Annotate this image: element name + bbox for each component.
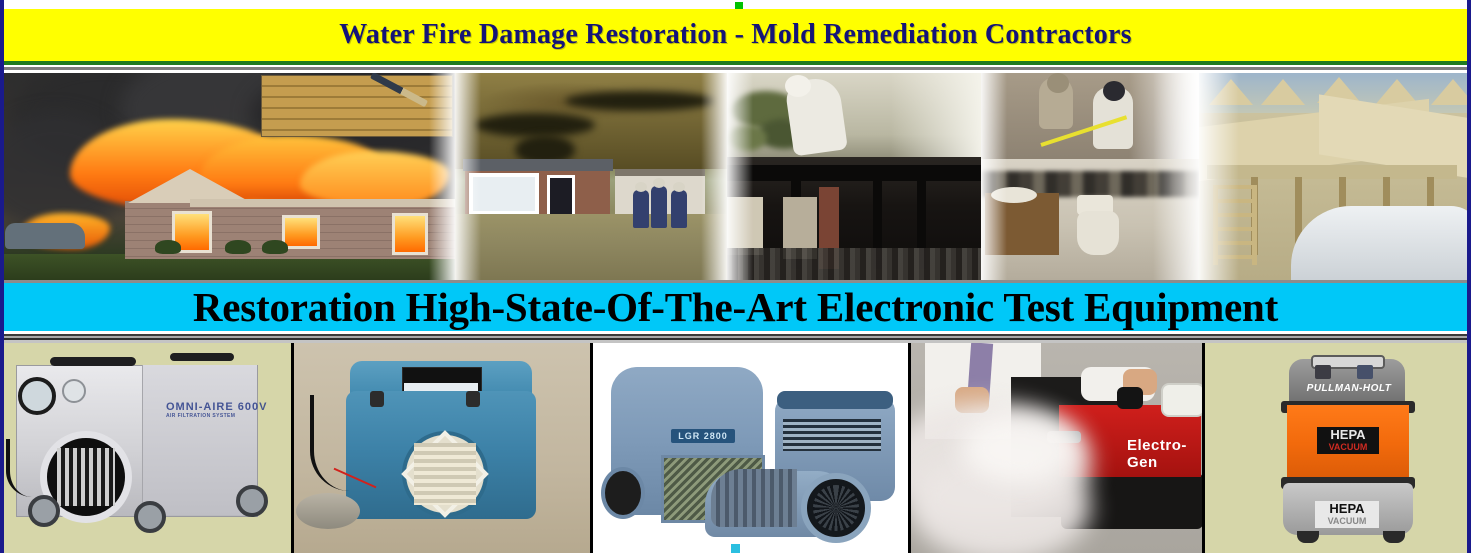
hepa-tag-lower-top: HEPA: [1315, 502, 1379, 515]
omni-aire-brand-text: OMNI-AIRE 600V: [166, 401, 267, 413]
page-title: Water Fire Damage Restoration - Mold Rem…: [339, 19, 1131, 51]
photo-hazmat-demolition-crew: [981, 73, 1199, 161]
bottom-center-marker: [731, 544, 740, 553]
right-border: [1467, 0, 1471, 553]
omni-aire-brand-sub: AIR FILTRATION SYSTEM: [166, 413, 267, 419]
fogger-brand-label: Electro-Gen: [1127, 437, 1202, 471]
hepa-vacuum-brand-label: PULLMAN-HOLT: [1297, 383, 1401, 394]
photo-brick-wall-inset: [261, 75, 453, 137]
hepa-tag-upper: HEPA VACUUM: [1317, 427, 1379, 454]
sub-banner: Restoration High-State-Of-The-Art Electr…: [0, 283, 1471, 331]
page-root: Water Fire Damage Restoration - Mold Rem…: [0, 0, 1471, 553]
photo-hazmat-and-bathroom: [981, 73, 1199, 280]
photo-fire-damaged-interior: [727, 157, 981, 280]
equipment-dehumidifiers-air-movers: LGR 2800: [593, 343, 911, 553]
equipment-air-scrubber-omni-aire: OMNI-AIRE 600V AIR FILTRATION SYSTEM: [0, 343, 294, 553]
hepa-tag-upper-bottom: VACUUM: [1317, 441, 1379, 454]
photo-mold-and-fire-interior: [727, 73, 981, 280]
hepa-tag-upper-top: HEPA: [1317, 428, 1379, 441]
left-border: [0, 0, 4, 553]
header-banner: Water Fire Damage Restoration - Mold Rem…: [0, 9, 1471, 61]
photo-house-reconstruction: [1199, 73, 1471, 280]
hepa-tag-lower-bottom: VACUUM: [1315, 515, 1379, 528]
photo-flooded-house: [455, 73, 727, 280]
sub-banner-title: Restoration High-State-Of-The-Art Electr…: [193, 283, 1278, 331]
omni-aire-brand-label: OMNI-AIRE 600V AIR FILTRATION SYSTEM: [166, 401, 267, 419]
hepa-tag-lower: HEPA VACUUM: [1315, 501, 1379, 528]
disaster-photo-strip: [0, 73, 1471, 280]
photo-mold-remediation-worker: [727, 73, 981, 161]
equipment-hepa-vacuum: PULLMAN-HOLT HEPA VACUUM HEPA VACUUM: [1205, 343, 1471, 553]
lgr-brand-label: LGR 2800: [671, 429, 735, 443]
equipment-negative-air-machine: [294, 343, 593, 553]
photo-moldy-bathroom: [981, 159, 1199, 280]
photo-burning-house: [0, 73, 455, 280]
equipment-photo-strip: OMNI-AIRE 600V AIR FILTRATION SYSTEM: [0, 343, 1471, 553]
equipment-thermal-fogger: Electro-Gen: [911, 343, 1205, 553]
